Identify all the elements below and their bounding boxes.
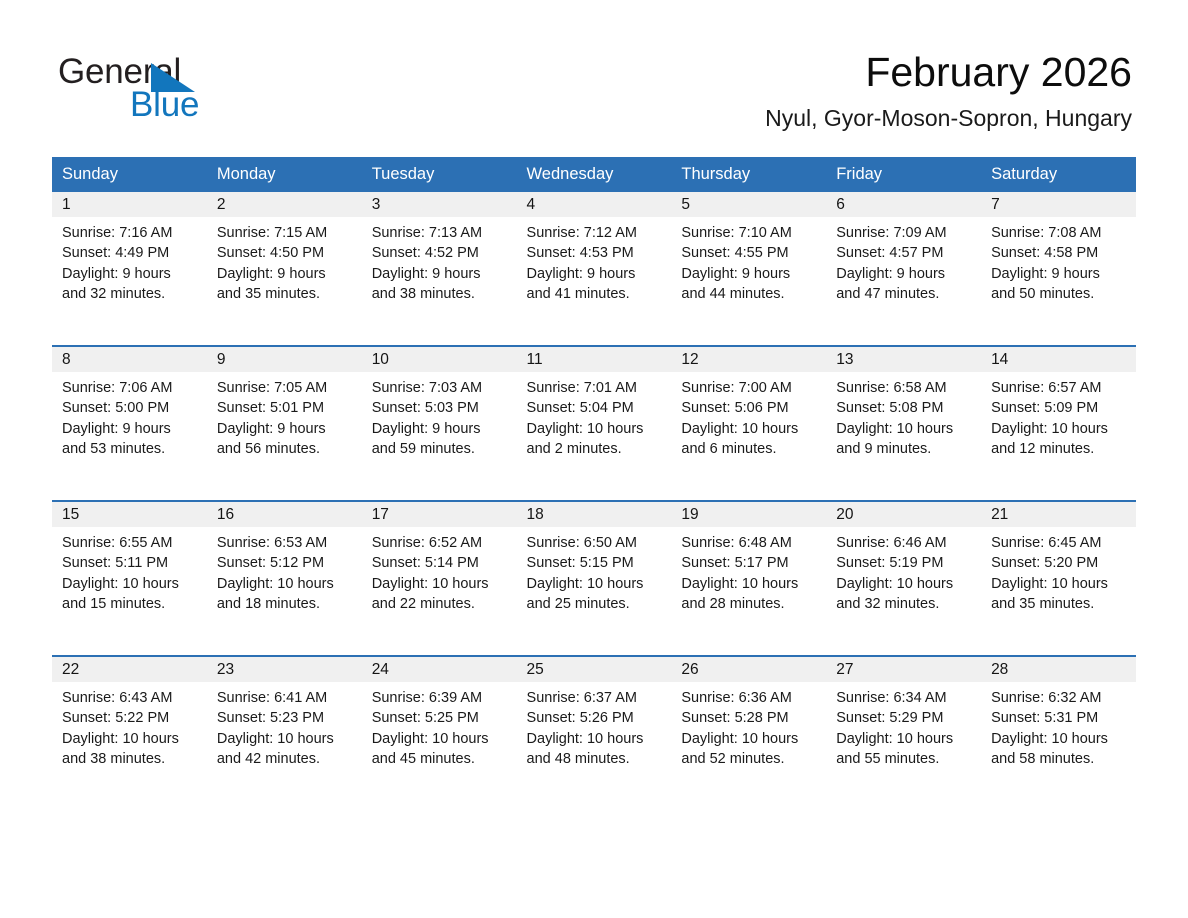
sunrise-text: Sunrise: 6:53 AM (217, 533, 354, 553)
day-cell: Sunrise: 7:08 AM Sunset: 4:58 PM Dayligh… (981, 217, 1136, 346)
daylight-text-line1: Daylight: 10 hours (991, 419, 1128, 439)
daylight-text-line1: Daylight: 10 hours (62, 729, 199, 749)
sunset-text: Sunset: 4:49 PM (62, 243, 199, 263)
sunrise-text: Sunrise: 6:58 AM (836, 378, 973, 398)
day-number[interactable]: 9 (207, 346, 362, 372)
sunrise-text: Sunrise: 6:39 AM (372, 688, 509, 708)
sunrise-text: Sunrise: 7:09 AM (836, 223, 973, 243)
daylight-text-line2: and 53 minutes. (62, 439, 199, 459)
day-number[interactable]: 20 (826, 501, 981, 527)
logo-text-blue: Blue (130, 85, 199, 125)
sunrise-text: Sunrise: 7:08 AM (991, 223, 1128, 243)
sunrise-text: Sunrise: 6:37 AM (527, 688, 664, 708)
week-1-detail-row: Sunrise: 7:16 AM Sunset: 4:49 PM Dayligh… (52, 217, 1136, 346)
sunset-text: Sunset: 5:22 PM (62, 708, 199, 728)
general-blue-logo[interactable]: General Blue (58, 52, 318, 124)
sunset-text: Sunset: 5:15 PM (527, 553, 664, 573)
daylight-text-line1: Daylight: 10 hours (62, 574, 199, 594)
daylight-text-line2: and 52 minutes. (681, 749, 818, 769)
daylight-text-line2: and 32 minutes. (836, 594, 973, 614)
daylight-text-line1: Daylight: 9 hours (217, 264, 354, 284)
daylight-text-line1: Daylight: 10 hours (836, 419, 973, 439)
day-number[interactable]: 24 (362, 656, 517, 682)
sunrise-text: Sunrise: 7:10 AM (681, 223, 818, 243)
sunrise-text: Sunrise: 6:50 AM (527, 533, 664, 553)
sunset-text: Sunset: 4:50 PM (217, 243, 354, 263)
week-4-daynum-row: 22 23 24 25 26 27 28 (52, 656, 1136, 682)
daylight-text-line1: Daylight: 10 hours (217, 574, 354, 594)
sunrise-text: Sunrise: 6:48 AM (681, 533, 818, 553)
daylight-text-line2: and 22 minutes. (372, 594, 509, 614)
daylight-text-line1: Daylight: 10 hours (681, 574, 818, 594)
week-4-detail-row: Sunrise: 6:43 AM Sunset: 5:22 PM Dayligh… (52, 682, 1136, 798)
day-cell: Sunrise: 6:32 AM Sunset: 5:31 PM Dayligh… (981, 682, 1136, 798)
daylight-text-line1: Daylight: 10 hours (681, 729, 818, 749)
sunset-text: Sunset: 5:11 PM (62, 553, 199, 573)
day-number[interactable]: 8 (52, 346, 207, 372)
daylight-text-line2: and 18 minutes. (217, 594, 354, 614)
daylight-text-line2: and 45 minutes. (372, 749, 509, 769)
daylight-text-line2: and 56 minutes. (217, 439, 354, 459)
daylight-text-line1: Daylight: 10 hours (527, 574, 664, 594)
day-number[interactable]: 17 (362, 501, 517, 527)
sunrise-text: Sunrise: 7:01 AM (527, 378, 664, 398)
day-cell: Sunrise: 6:46 AM Sunset: 5:19 PM Dayligh… (826, 527, 981, 656)
sunrise-text: Sunrise: 6:52 AM (372, 533, 509, 553)
sunrise-text: Sunrise: 6:36 AM (681, 688, 818, 708)
sunrise-text: Sunrise: 6:55 AM (62, 533, 199, 553)
weekday-header-sunday: Sunday (52, 157, 207, 192)
daylight-text-line2: and 55 minutes. (836, 749, 973, 769)
sunset-text: Sunset: 5:29 PM (836, 708, 973, 728)
sunset-text: Sunset: 5:03 PM (372, 398, 509, 418)
day-number[interactable]: 16 (207, 501, 362, 527)
day-cell: Sunrise: 6:34 AM Sunset: 5:29 PM Dayligh… (826, 682, 981, 798)
day-cell: Sunrise: 7:03 AM Sunset: 5:03 PM Dayligh… (362, 372, 517, 501)
week-2-detail-row: Sunrise: 7:06 AM Sunset: 5:00 PM Dayligh… (52, 372, 1136, 501)
weekday-header-saturday: Saturday (981, 157, 1136, 192)
day-number[interactable]: 1 (52, 192, 207, 217)
day-number[interactable]: 5 (671, 192, 826, 217)
day-number[interactable]: 13 (826, 346, 981, 372)
daylight-text-line2: and 50 minutes. (991, 284, 1128, 304)
day-number[interactable]: 21 (981, 501, 1136, 527)
page-title: February 2026 (765, 48, 1132, 97)
day-cell: Sunrise: 7:16 AM Sunset: 4:49 PM Dayligh… (52, 217, 207, 346)
day-cell: Sunrise: 6:57 AM Sunset: 5:09 PM Dayligh… (981, 372, 1136, 501)
sunset-text: Sunset: 5:12 PM (217, 553, 354, 573)
sunset-text: Sunset: 5:25 PM (372, 708, 509, 728)
sunset-text: Sunset: 4:52 PM (372, 243, 509, 263)
daylight-text-line1: Daylight: 9 hours (527, 264, 664, 284)
sunset-text: Sunset: 5:23 PM (217, 708, 354, 728)
day-cell: Sunrise: 7:06 AM Sunset: 5:00 PM Dayligh… (52, 372, 207, 501)
day-cell: Sunrise: 6:37 AM Sunset: 5:26 PM Dayligh… (517, 682, 672, 798)
daylight-text-line2: and 28 minutes. (681, 594, 818, 614)
sunrise-text: Sunrise: 6:32 AM (991, 688, 1128, 708)
day-cell: Sunrise: 7:10 AM Sunset: 4:55 PM Dayligh… (671, 217, 826, 346)
sunrise-text: Sunrise: 6:46 AM (836, 533, 973, 553)
sunset-text: Sunset: 5:08 PM (836, 398, 973, 418)
daylight-text-line2: and 58 minutes. (991, 749, 1128, 769)
daylight-text-line1: Daylight: 9 hours (836, 264, 973, 284)
daylight-text-line1: Daylight: 9 hours (372, 264, 509, 284)
daylight-text-line2: and 25 minutes. (527, 594, 664, 614)
daylight-text-line1: Daylight: 10 hours (836, 729, 973, 749)
sunset-text: Sunset: 4:55 PM (681, 243, 818, 263)
day-cell: Sunrise: 6:41 AM Sunset: 5:23 PM Dayligh… (207, 682, 362, 798)
calendar-head: Sunday Monday Tuesday Wednesday Thursday… (52, 157, 1136, 192)
sunset-text: Sunset: 5:00 PM (62, 398, 199, 418)
daylight-text-line2: and 41 minutes. (527, 284, 664, 304)
sunset-text: Sunset: 5:20 PM (991, 553, 1128, 573)
weekday-header-wednesday: Wednesday (517, 157, 672, 192)
weekday-header-tuesday: Tuesday (362, 157, 517, 192)
day-number[interactable]: 7 (981, 192, 1136, 217)
daylight-text-line1: Daylight: 10 hours (527, 729, 664, 749)
day-cell: Sunrise: 6:50 AM Sunset: 5:15 PM Dayligh… (517, 527, 672, 656)
sunrise-text: Sunrise: 6:43 AM (62, 688, 199, 708)
calendar-container: Sunday Monday Tuesday Wednesday Thursday… (52, 157, 1136, 798)
day-number[interactable]: 25 (517, 656, 672, 682)
daylight-text-line1: Daylight: 9 hours (991, 264, 1128, 284)
sunset-text: Sunset: 4:57 PM (836, 243, 973, 263)
daylight-text-line2: and 2 minutes. (527, 439, 664, 459)
sunrise-text: Sunrise: 7:05 AM (217, 378, 354, 398)
daylight-text-line1: Daylight: 9 hours (372, 419, 509, 439)
calendar-body: 1 2 3 4 5 6 7 Sunrise: 7:16 AM Sunset: 4… (52, 192, 1136, 798)
day-number[interactable]: 22 (52, 656, 207, 682)
sunset-text: Sunset: 5:28 PM (681, 708, 818, 728)
daylight-text-line1: Daylight: 10 hours (372, 574, 509, 594)
location-subtitle: Nyul, Gyor-Moson-Sopron, Hungary (765, 105, 1132, 132)
daylight-text-line1: Daylight: 10 hours (681, 419, 818, 439)
daylight-text-line2: and 32 minutes. (62, 284, 199, 304)
daylight-text-line2: and 38 minutes. (62, 749, 199, 769)
sunset-text: Sunset: 5:19 PM (836, 553, 973, 573)
daylight-text-line2: and 44 minutes. (681, 284, 818, 304)
daylight-text-line1: Daylight: 10 hours (991, 574, 1128, 594)
day-number[interactable]: 14 (981, 346, 1136, 372)
daylight-text-line2: and 59 minutes. (372, 439, 509, 459)
day-cell: Sunrise: 6:45 AM Sunset: 5:20 PM Dayligh… (981, 527, 1136, 656)
daylight-text-line2: and 47 minutes. (836, 284, 973, 304)
sunrise-text: Sunrise: 6:41 AM (217, 688, 354, 708)
day-cell: Sunrise: 7:09 AM Sunset: 4:57 PM Dayligh… (826, 217, 981, 346)
day-number[interactable]: 19 (671, 501, 826, 527)
calendar-page: General Blue February 2026 Nyul, Gyor-Mo… (0, 0, 1188, 918)
day-cell: Sunrise: 7:00 AM Sunset: 5:06 PM Dayligh… (671, 372, 826, 501)
week-1-daynum-row: 1 2 3 4 5 6 7 (52, 192, 1136, 217)
sunrise-text: Sunrise: 7:03 AM (372, 378, 509, 398)
day-cell: Sunrise: 7:12 AM Sunset: 4:53 PM Dayligh… (517, 217, 672, 346)
daylight-text-line2: and 48 minutes. (527, 749, 664, 769)
day-cell: Sunrise: 6:52 AM Sunset: 5:14 PM Dayligh… (362, 527, 517, 656)
day-number[interactable]: 4 (517, 192, 672, 217)
sunset-text: Sunset: 5:26 PM (527, 708, 664, 728)
day-cell: Sunrise: 6:58 AM Sunset: 5:08 PM Dayligh… (826, 372, 981, 501)
daylight-text-line1: Daylight: 10 hours (991, 729, 1128, 749)
daylight-text-line2: and 35 minutes. (991, 594, 1128, 614)
day-cell: Sunrise: 6:39 AM Sunset: 5:25 PM Dayligh… (362, 682, 517, 798)
daylight-text-line1: Daylight: 10 hours (836, 574, 973, 594)
daylight-text-line1: Daylight: 10 hours (527, 419, 664, 439)
day-number[interactable]: 26 (671, 656, 826, 682)
week-2-daynum-row: 8 9 10 11 12 13 14 (52, 346, 1136, 372)
sunrise-text: Sunrise: 7:15 AM (217, 223, 354, 243)
sunrise-text: Sunrise: 7:13 AM (372, 223, 509, 243)
page-header: General Blue February 2026 Nyul, Gyor-Mo… (0, 0, 1188, 157)
sunrise-text: Sunrise: 7:00 AM (681, 378, 818, 398)
day-number[interactable]: 3 (362, 192, 517, 217)
daylight-text-line2: and 42 minutes. (217, 749, 354, 769)
sunset-text: Sunset: 4:58 PM (991, 243, 1128, 263)
day-cell: Sunrise: 7:13 AM Sunset: 4:52 PM Dayligh… (362, 217, 517, 346)
daylight-text-line2: and 9 minutes. (836, 439, 973, 459)
daylight-text-line1: Daylight: 10 hours (372, 729, 509, 749)
sunset-text: Sunset: 5:31 PM (991, 708, 1128, 728)
week-3-detail-row: Sunrise: 6:55 AM Sunset: 5:11 PM Dayligh… (52, 527, 1136, 656)
day-cell: Sunrise: 6:53 AM Sunset: 5:12 PM Dayligh… (207, 527, 362, 656)
sunrise-text: Sunrise: 7:16 AM (62, 223, 199, 243)
daylight-text-line1: Daylight: 9 hours (62, 264, 199, 284)
calendar-table: Sunday Monday Tuesday Wednesday Thursday… (52, 157, 1136, 798)
title-block: February 2026 Nyul, Gyor-Moson-Sopron, H… (765, 48, 1132, 132)
daylight-text-line2: and 35 minutes. (217, 284, 354, 304)
day-number[interactable]: 2 (207, 192, 362, 217)
day-number[interactable]: 28 (981, 656, 1136, 682)
day-number[interactable]: 12 (671, 346, 826, 372)
daylight-text-line1: Daylight: 9 hours (62, 419, 199, 439)
sunset-text: Sunset: 5:14 PM (372, 553, 509, 573)
sunset-text: Sunset: 5:17 PM (681, 553, 818, 573)
day-cell: Sunrise: 7:15 AM Sunset: 4:50 PM Dayligh… (207, 217, 362, 346)
day-number[interactable]: 23 (207, 656, 362, 682)
sunrise-text: Sunrise: 6:34 AM (836, 688, 973, 708)
weekday-header-friday: Friday (826, 157, 981, 192)
sunset-text: Sunset: 5:06 PM (681, 398, 818, 418)
sunrise-text: Sunrise: 6:57 AM (991, 378, 1128, 398)
daylight-text-line1: Daylight: 10 hours (217, 729, 354, 749)
daylight-text-line2: and 15 minutes. (62, 594, 199, 614)
daylight-text-line1: Daylight: 9 hours (681, 264, 818, 284)
day-cell: Sunrise: 6:43 AM Sunset: 5:22 PM Dayligh… (52, 682, 207, 798)
sunset-text: Sunset: 5:09 PM (991, 398, 1128, 418)
day-cell: Sunrise: 6:55 AM Sunset: 5:11 PM Dayligh… (52, 527, 207, 656)
day-number[interactable]: 10 (362, 346, 517, 372)
day-number[interactable]: 11 (517, 346, 672, 372)
daylight-text-line2: and 12 minutes. (991, 439, 1128, 459)
sunrise-text: Sunrise: 7:06 AM (62, 378, 199, 398)
daylight-text-line2: and 6 minutes. (681, 439, 818, 459)
day-number[interactable]: 18 (517, 501, 672, 527)
daylight-text-line1: Daylight: 9 hours (217, 419, 354, 439)
day-number[interactable]: 27 (826, 656, 981, 682)
day-cell: Sunrise: 6:48 AM Sunset: 5:17 PM Dayligh… (671, 527, 826, 656)
day-number[interactable]: 15 (52, 501, 207, 527)
day-cell: Sunrise: 7:05 AM Sunset: 5:01 PM Dayligh… (207, 372, 362, 501)
daylight-text-line2: and 38 minutes. (372, 284, 509, 304)
day-cell: Sunrise: 6:36 AM Sunset: 5:28 PM Dayligh… (671, 682, 826, 798)
sunset-text: Sunset: 5:04 PM (527, 398, 664, 418)
sunset-text: Sunset: 4:53 PM (527, 243, 664, 263)
weekday-header-thursday: Thursday (671, 157, 826, 192)
day-cell: Sunrise: 7:01 AM Sunset: 5:04 PM Dayligh… (517, 372, 672, 501)
sunrise-text: Sunrise: 6:45 AM (991, 533, 1128, 553)
weekday-header-row: Sunday Monday Tuesday Wednesday Thursday… (52, 157, 1136, 192)
day-number[interactable]: 6 (826, 192, 981, 217)
sunset-text: Sunset: 5:01 PM (217, 398, 354, 418)
sunrise-text: Sunrise: 7:12 AM (527, 223, 664, 243)
week-3-daynum-row: 15 16 17 18 19 20 21 (52, 501, 1136, 527)
weekday-header-monday: Monday (207, 157, 362, 192)
